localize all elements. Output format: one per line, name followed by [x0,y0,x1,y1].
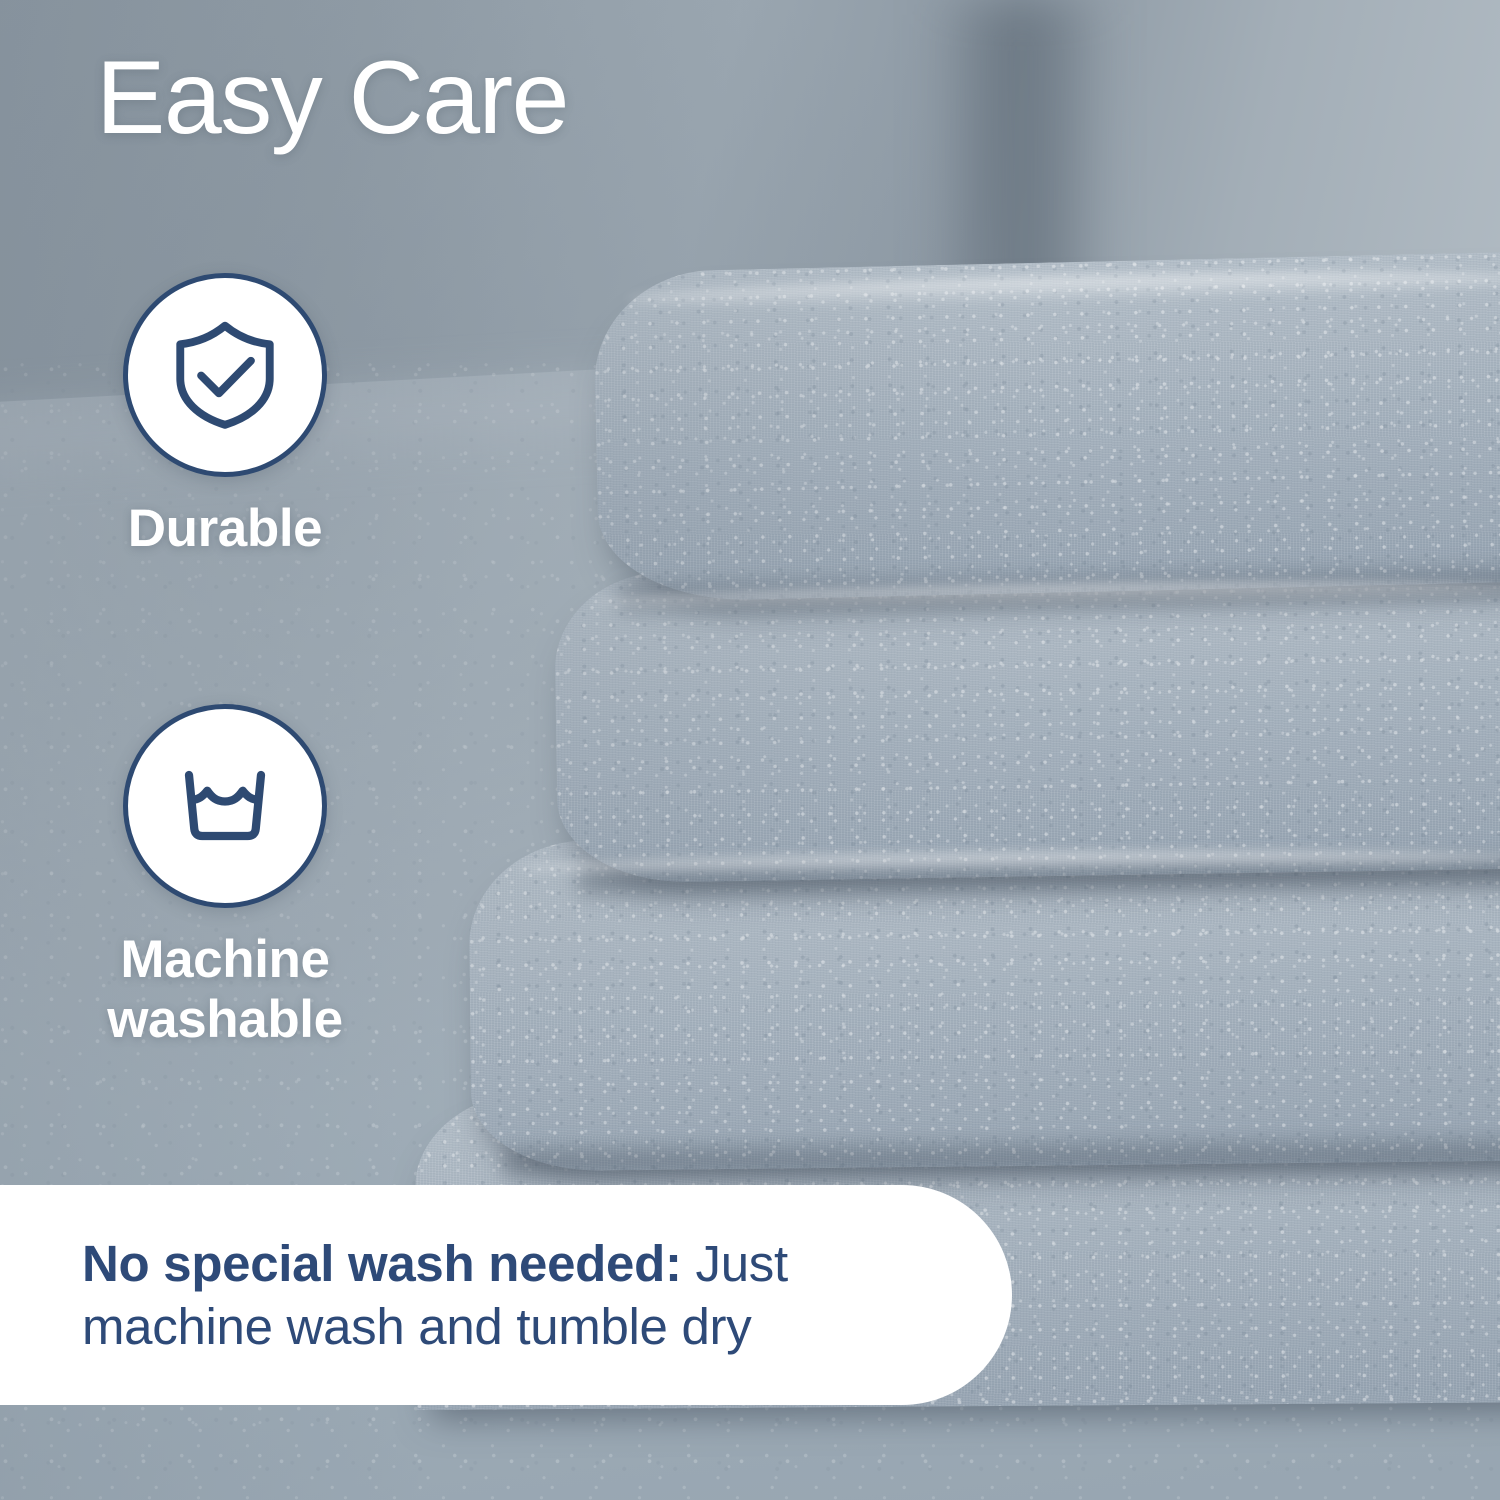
durable-label-line1: Durable [128,499,323,558]
machine-washable-label-line2: washable [5,990,445,1049]
caption-lead: No special wash needed: [82,1235,682,1292]
durable-badge [123,273,327,477]
machine-washable-label-line1: Machine [120,930,329,989]
easy-care-feature-panel: Easy Care Durable [0,0,1500,1500]
machine-wash-tub-icon [165,746,285,866]
machine-washable-label: Machine washable [5,930,445,1049]
feature-item-durable: Durable [0,273,450,558]
feature-list: Durable Machine washable [0,273,450,1049]
page-title: Easy Care [96,42,568,154]
machine-washable-badge [123,704,327,908]
caption-text: No special wash needed: Just machine was… [0,1232,1012,1358]
shield-check-icon [164,314,286,436]
feature-item-machine-washable: Machine washable [0,704,450,1049]
durable-label: Durable [5,499,445,558]
caption-banner: No special wash needed: Just machine was… [0,1185,1012,1405]
